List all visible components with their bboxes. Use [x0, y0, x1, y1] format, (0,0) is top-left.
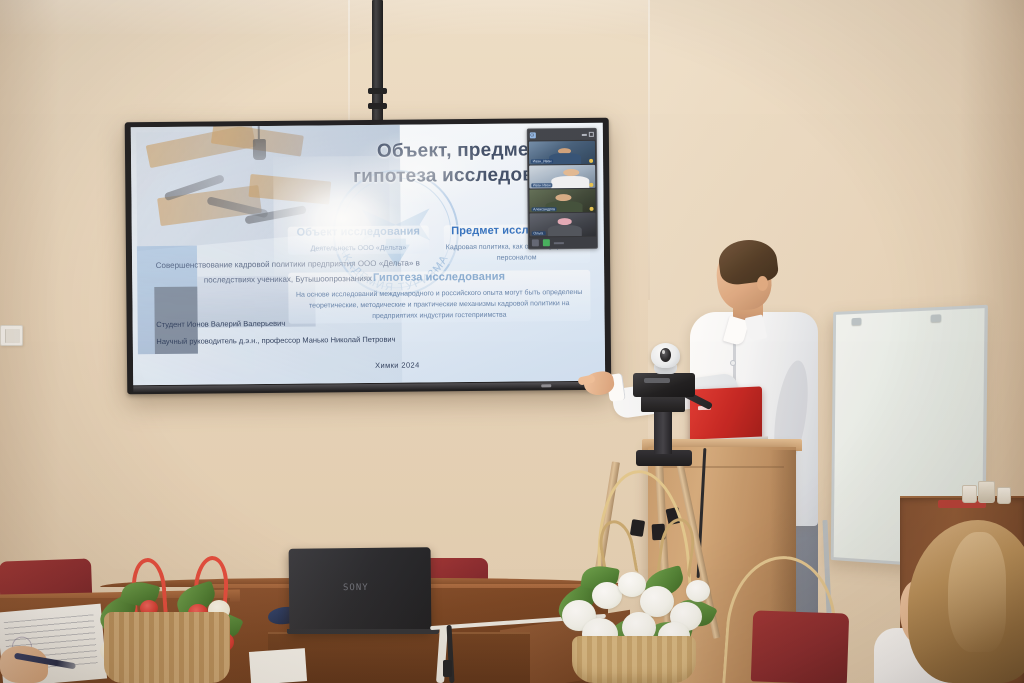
participant-name: Александров — [531, 208, 557, 212]
participant-body — [549, 153, 581, 164]
minimize-icon[interactable] — [582, 134, 587, 136]
window-controls[interactable] — [582, 132, 594, 137]
participant-body — [548, 225, 581, 236]
mic-muted-icon — [590, 207, 594, 211]
wall-seam — [648, 0, 650, 300]
wall-shadow-left — [0, 0, 60, 620]
light-switch[interactable] — [0, 325, 23, 346]
tripod-collar — [641, 396, 685, 412]
mic-muted-icon — [589, 159, 593, 163]
slide-section-object: Объект исследования Деятельность ООО «Де… — [287, 225, 429, 255]
video-call-titlebar[interactable]: CI — [527, 129, 596, 141]
attendee-hand — [0, 646, 48, 683]
participant-head — [557, 218, 572, 225]
paper-clip-icon[interactable] — [852, 318, 862, 325]
tripod-center-column — [654, 410, 672, 454]
document-page — [249, 648, 307, 683]
presenter-ear — [757, 276, 768, 291]
participant-tile[interactable]: Иван_Иван — [528, 141, 595, 165]
dark-laptop-base — [287, 629, 439, 634]
slide-overlay-text: последствиях учениках, Бутышоопрознаниях — [151, 272, 425, 288]
reflection-lantern — [253, 139, 266, 160]
tv-screen[interactable]: АКАДЕМИЯ ТУРИЗМА Объект, предмет и гипот… — [131, 123, 605, 386]
mount-collar — [368, 103, 387, 109]
tripod-knob[interactable] — [644, 378, 670, 383]
presentation-slide: АКАДЕМИЯ ТУРИЗМА Объект, предмет и гипот… — [131, 123, 605, 386]
tv-power-led-icon — [541, 384, 551, 387]
table-front-panel — [268, 632, 530, 683]
cable-plug — [443, 660, 452, 677]
shirt-button — [730, 360, 736, 366]
participant-tile[interactable]: Иван Иван — [529, 165, 596, 189]
participant-tile[interactable]: Ольга — [529, 213, 596, 237]
more-options-icon[interactable] — [553, 242, 563, 244]
white-flower — [686, 580, 710, 602]
paper-cup — [962, 485, 977, 503]
camera-icon[interactable] — [542, 240, 549, 247]
video-call-toolbar[interactable] — [528, 237, 597, 249]
maximize-icon[interactable] — [589, 132, 594, 137]
dark-laptop[interactable]: SONY — [289, 547, 432, 632]
mic-muted-icon — [590, 183, 594, 187]
participant-body — [551, 176, 589, 188]
participant-tile[interactable]: Александров — [529, 189, 596, 213]
wicker-basket — [104, 612, 230, 683]
wicker-basket — [572, 636, 696, 683]
webcam-lens-icon — [660, 348, 671, 362]
hair-highlight — [948, 532, 1006, 652]
wall-mounted-television[interactable]: АКАДЕМИЯ ТУРИЗМА Объект, предмет и гипот… — [125, 118, 612, 395]
participant-grid: Иван_Иван Иван Иван Александ — [527, 140, 597, 238]
slide-overlay-text: Совершенствование кадровой политики пред… — [151, 256, 425, 272]
laptop-brand-logo: SONY — [343, 583, 377, 592]
paper-clip-icon[interactable] — [931, 314, 942, 322]
participant-name: Иван Иван — [531, 184, 553, 188]
tripod-head — [633, 373, 695, 397]
chair — [751, 610, 849, 683]
conference-room-photo: АКАДЕМИЯ ТУРИЗМА Объект, предмет и гипот… — [0, 0, 1024, 683]
white-flower-basket — [552, 556, 716, 648]
paper-cup — [997, 487, 1011, 504]
microphone-icon[interactable] — [531, 240, 538, 247]
mount-collar — [368, 88, 387, 94]
section-body: Деятельность ООО «Дельта» — [288, 242, 430, 255]
app-badge-icon: CI — [529, 132, 535, 138]
slide-place-year: Химки 2024 — [341, 360, 454, 370]
participant-name: Ольга — [531, 232, 545, 236]
paper-cup — [978, 481, 995, 503]
video-call-window[interactable]: CI Иван_Иван — [526, 128, 598, 250]
section-heading: Объект исследования — [287, 225, 429, 238]
participant-name: Иван_Иван — [531, 159, 554, 163]
red-laptop[interactable] — [690, 386, 762, 443]
